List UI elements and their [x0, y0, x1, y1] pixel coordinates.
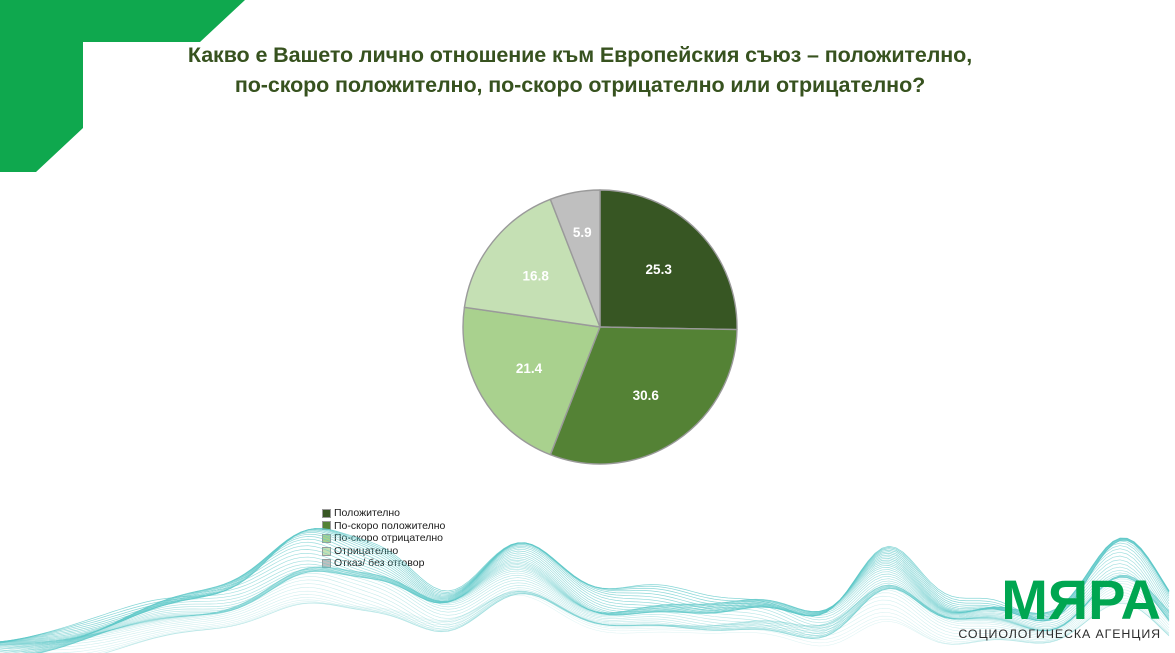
- legend-swatch-icon: [322, 534, 331, 543]
- pie-slice-value-label: 21.4: [516, 361, 543, 376]
- pie-slice-value-label: 30.6: [633, 388, 660, 403]
- legend-item[interactable]: По-скоро отрицателно: [322, 532, 445, 545]
- pie-slice-value-label: 16.8: [523, 268, 550, 283]
- page-title: Какво е Вашето лично отношение към Европ…: [70, 41, 1090, 100]
- legend-item[interactable]: Отрицателно: [322, 545, 445, 558]
- slide-canvas: Какво е Вашето лично отношение към Европ…: [0, 0, 1175, 653]
- page-title-line-1: Какво е Вашето лично отношение към Европ…: [70, 41, 1090, 71]
- legend-item-label: По-скоро положително: [334, 521, 445, 532]
- pie-slice[interactable]: [600, 190, 737, 330]
- legend-item[interactable]: Положително: [322, 507, 445, 520]
- legend-swatch-icon: [322, 521, 331, 530]
- chart-legend: ПоложителноПо-скоро положителноПо-скоро …: [322, 507, 445, 570]
- legend-swatch-icon: [322, 547, 331, 556]
- legend-item[interactable]: Отказ/ без отговор: [322, 557, 445, 570]
- legend-item-label: Положително: [334, 508, 400, 519]
- pie-slices-group: [463, 190, 737, 464]
- legend-item-label: Отрицателно: [334, 546, 398, 557]
- pie-slice-value-label: 25.3: [646, 262, 673, 277]
- agency-logo: МЯРА СОЦИОЛОГИЧЕСКА АГЕНЦИЯ: [958, 574, 1161, 641]
- legend-item[interactable]: По-скоро положително: [322, 520, 445, 533]
- legend-swatch-icon: [322, 559, 331, 568]
- legend-item-label: По-скоро отрицателно: [334, 533, 443, 544]
- logo-subtitle: СОЦИОЛОГИЧЕСКА АГЕНЦИЯ: [958, 627, 1161, 641]
- legend-item-label: Отказ/ без отговор: [334, 558, 424, 569]
- pie-chart-svg: 25.330.621.416.85.9: [461, 188, 739, 466]
- legend-swatch-icon: [322, 509, 331, 518]
- logo-wordmark: МЯРА: [958, 574, 1161, 626]
- page-title-line-2: по-скоро положително, по-скоро отрицател…: [70, 71, 1090, 101]
- pie-chart: 25.330.621.416.85.9: [461, 188, 739, 466]
- pie-slice-value-label: 5.9: [573, 225, 592, 240]
